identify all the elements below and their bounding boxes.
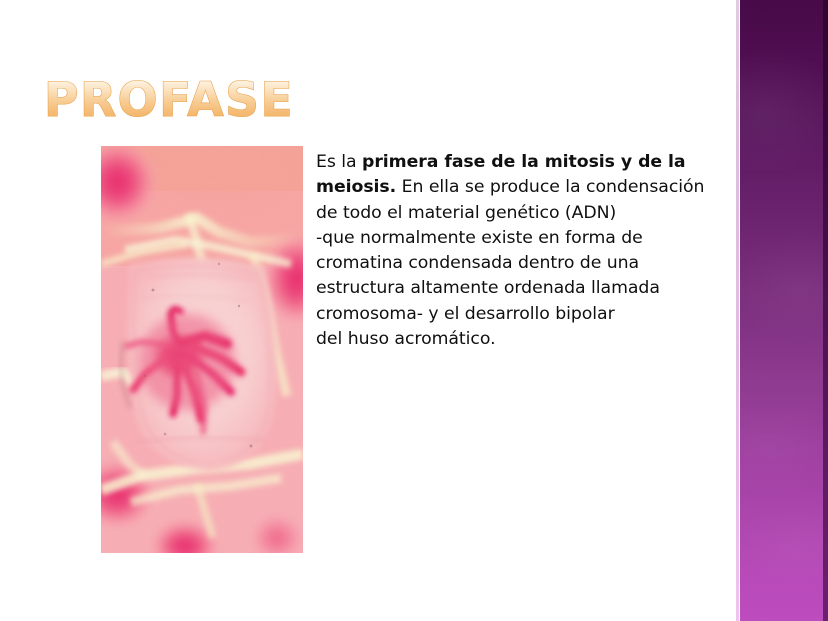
body-text-plain: -que normalmente existe en forma de — [316, 228, 643, 248]
sidebar-highlight-edge — [736, 0, 739, 621]
micrograph-image — [101, 146, 303, 553]
body-text-bold: meiosis. — [316, 177, 396, 197]
body-text-plain: estructura altamente ordenada llamada — [316, 278, 660, 298]
micrograph-artwork — [101, 146, 303, 553]
body-line: -que normalmente existe en forma de — [316, 226, 734, 251]
body-line: de todo el material genético (ADN) — [316, 201, 734, 226]
sidebar-shadow-edge — [823, 0, 828, 621]
body-text-bold: primera fase de la mitosis y de la — [362, 152, 686, 172]
sidebar-gradient-fill — [740, 0, 824, 621]
body-text-plain: Es la — [316, 152, 362, 172]
body-text-plain: del huso acromático. — [316, 329, 496, 349]
body-paragraph: Es la primera fase de la mitosis y de la… — [316, 150, 734, 352]
body-line: cromosoma- y el desarrollo bipolar — [316, 302, 734, 327]
page-title: PROFASE — [44, 73, 294, 129]
body-text-plain: cromatina condensada dentro de una — [316, 253, 639, 273]
body-line: cromatina condensada dentro de una — [316, 251, 734, 276]
presentation-slide: PROFASE PROFASE — [0, 0, 828, 621]
body-line: estructura altamente ordenada llamada — [316, 276, 734, 301]
body-line: Es la primera fase de la mitosis y de la — [316, 150, 734, 175]
sidebar-decorative-band — [735, 0, 828, 621]
body-text-plain: cromosoma- y el desarrollo bipolar — [316, 304, 615, 324]
body-line: del huso acromático. — [316, 327, 734, 352]
body-text-plain: de todo el material genético (ADN) — [316, 203, 616, 223]
body-text-plain: En ella se produce la condensación — [396, 177, 704, 197]
body-line: meiosis. En ella se produce la condensac… — [316, 175, 734, 200]
